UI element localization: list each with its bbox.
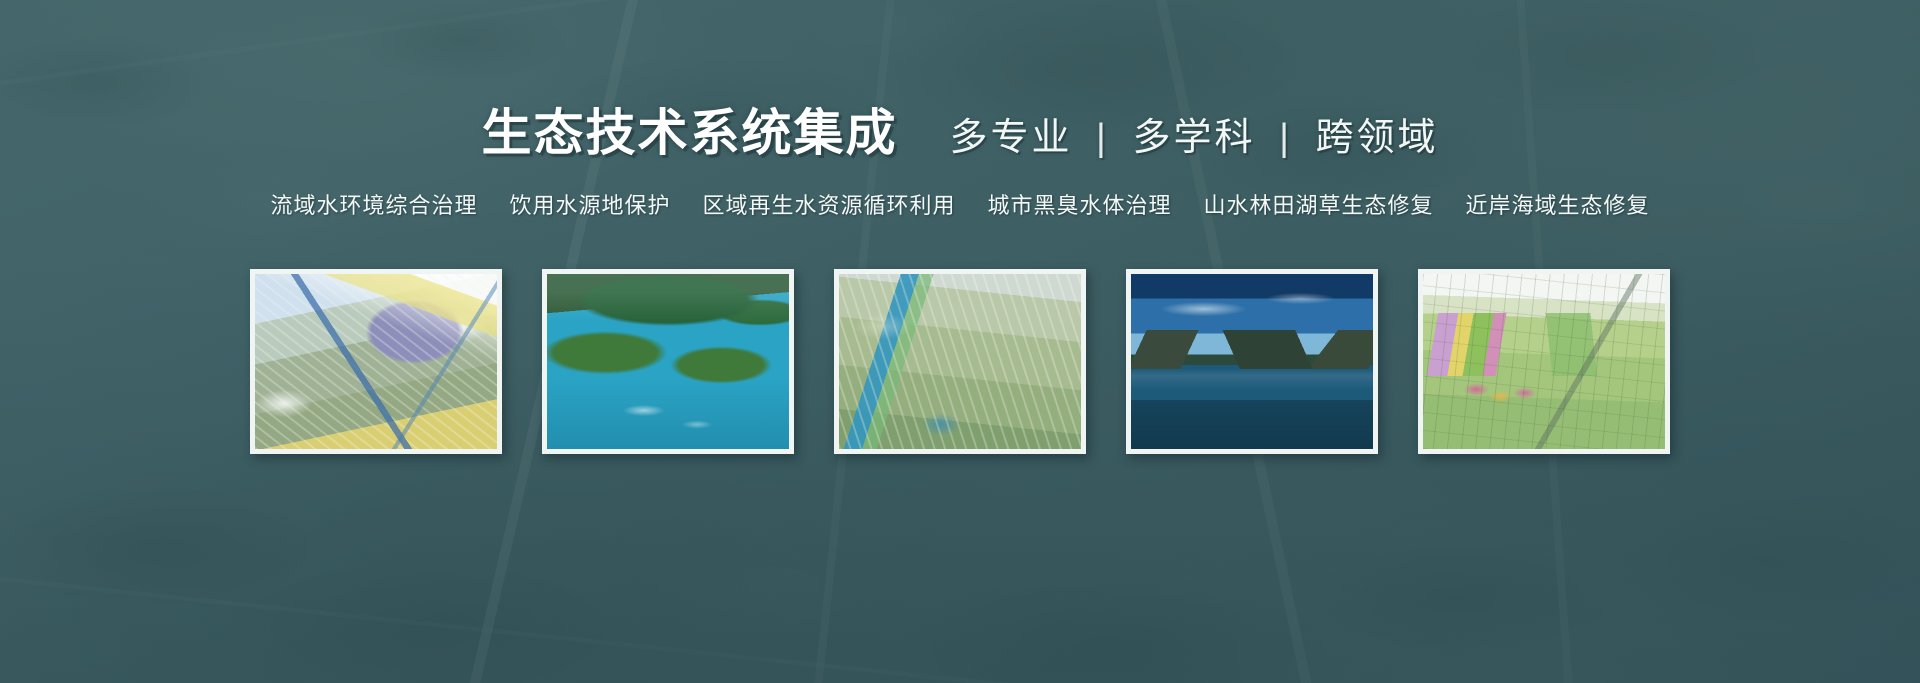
tagline-item-3: 跨领域 (1316, 117, 1439, 159)
tagline-separator-2: | (1269, 117, 1302, 159)
thumbnail-strip (0, 269, 1920, 454)
category-item-watershed[interactable]: 流域水环境综合治理 (254, 192, 493, 221)
hero-banner: 生态技术系统集成 多专业 | 多学科 | 跨领域 流域水环境综合治理 饮用水源地… (0, 0, 1920, 683)
thumbnail-mountain-lake[interactable] (1126, 269, 1378, 454)
thumbnail-island-lake[interactable] (542, 269, 794, 454)
thumbnail-farmland[interactable] (1418, 269, 1670, 454)
river-corridor-image (839, 274, 1081, 449)
thumbnail-watershed[interactable] (250, 269, 502, 454)
banner-tagline: 多专业 | 多学科 | 跨领域 (949, 119, 1438, 157)
category-item-drinking-water[interactable]: 饮用水源地保护 (493, 192, 686, 221)
tagline-separator-1: | (1086, 117, 1119, 159)
watershed-aerial-image (255, 274, 497, 449)
category-list: 流域水环境综合治理 饮用水源地保护 区域再生水资源循环利用 城市黑臭水体治理 山… (0, 192, 1920, 221)
island-lake-image (547, 274, 789, 449)
headline-row: 生态技术系统集成 多专业 | 多学科 | 跨领域 (0, 108, 1920, 158)
mountain-lake-image (1131, 274, 1373, 449)
tagline-item-2: 多学科 (1132, 117, 1255, 159)
tagline-item-1: 多专业 (949, 117, 1072, 159)
banner-headline: 生态技术系统集成 (481, 108, 897, 158)
category-item-coastal[interactable]: 近岸海域生态修复 (1450, 192, 1666, 221)
banner-content: 生态技术系统集成 多专业 | 多学科 | 跨领域 流域水环境综合治理 饮用水源地… (0, 0, 1920, 683)
thumbnail-river-corridor[interactable] (834, 269, 1086, 454)
category-item-black-odorous[interactable]: 城市黑臭水体治理 (972, 192, 1188, 221)
farmland-patchwork-image (1423, 274, 1665, 449)
category-item-mountain-river[interactable]: 山水林田湖草生态修复 (1188, 192, 1450, 221)
category-item-reclaimed-water[interactable]: 区域再生水资源循环利用 (686, 192, 971, 221)
